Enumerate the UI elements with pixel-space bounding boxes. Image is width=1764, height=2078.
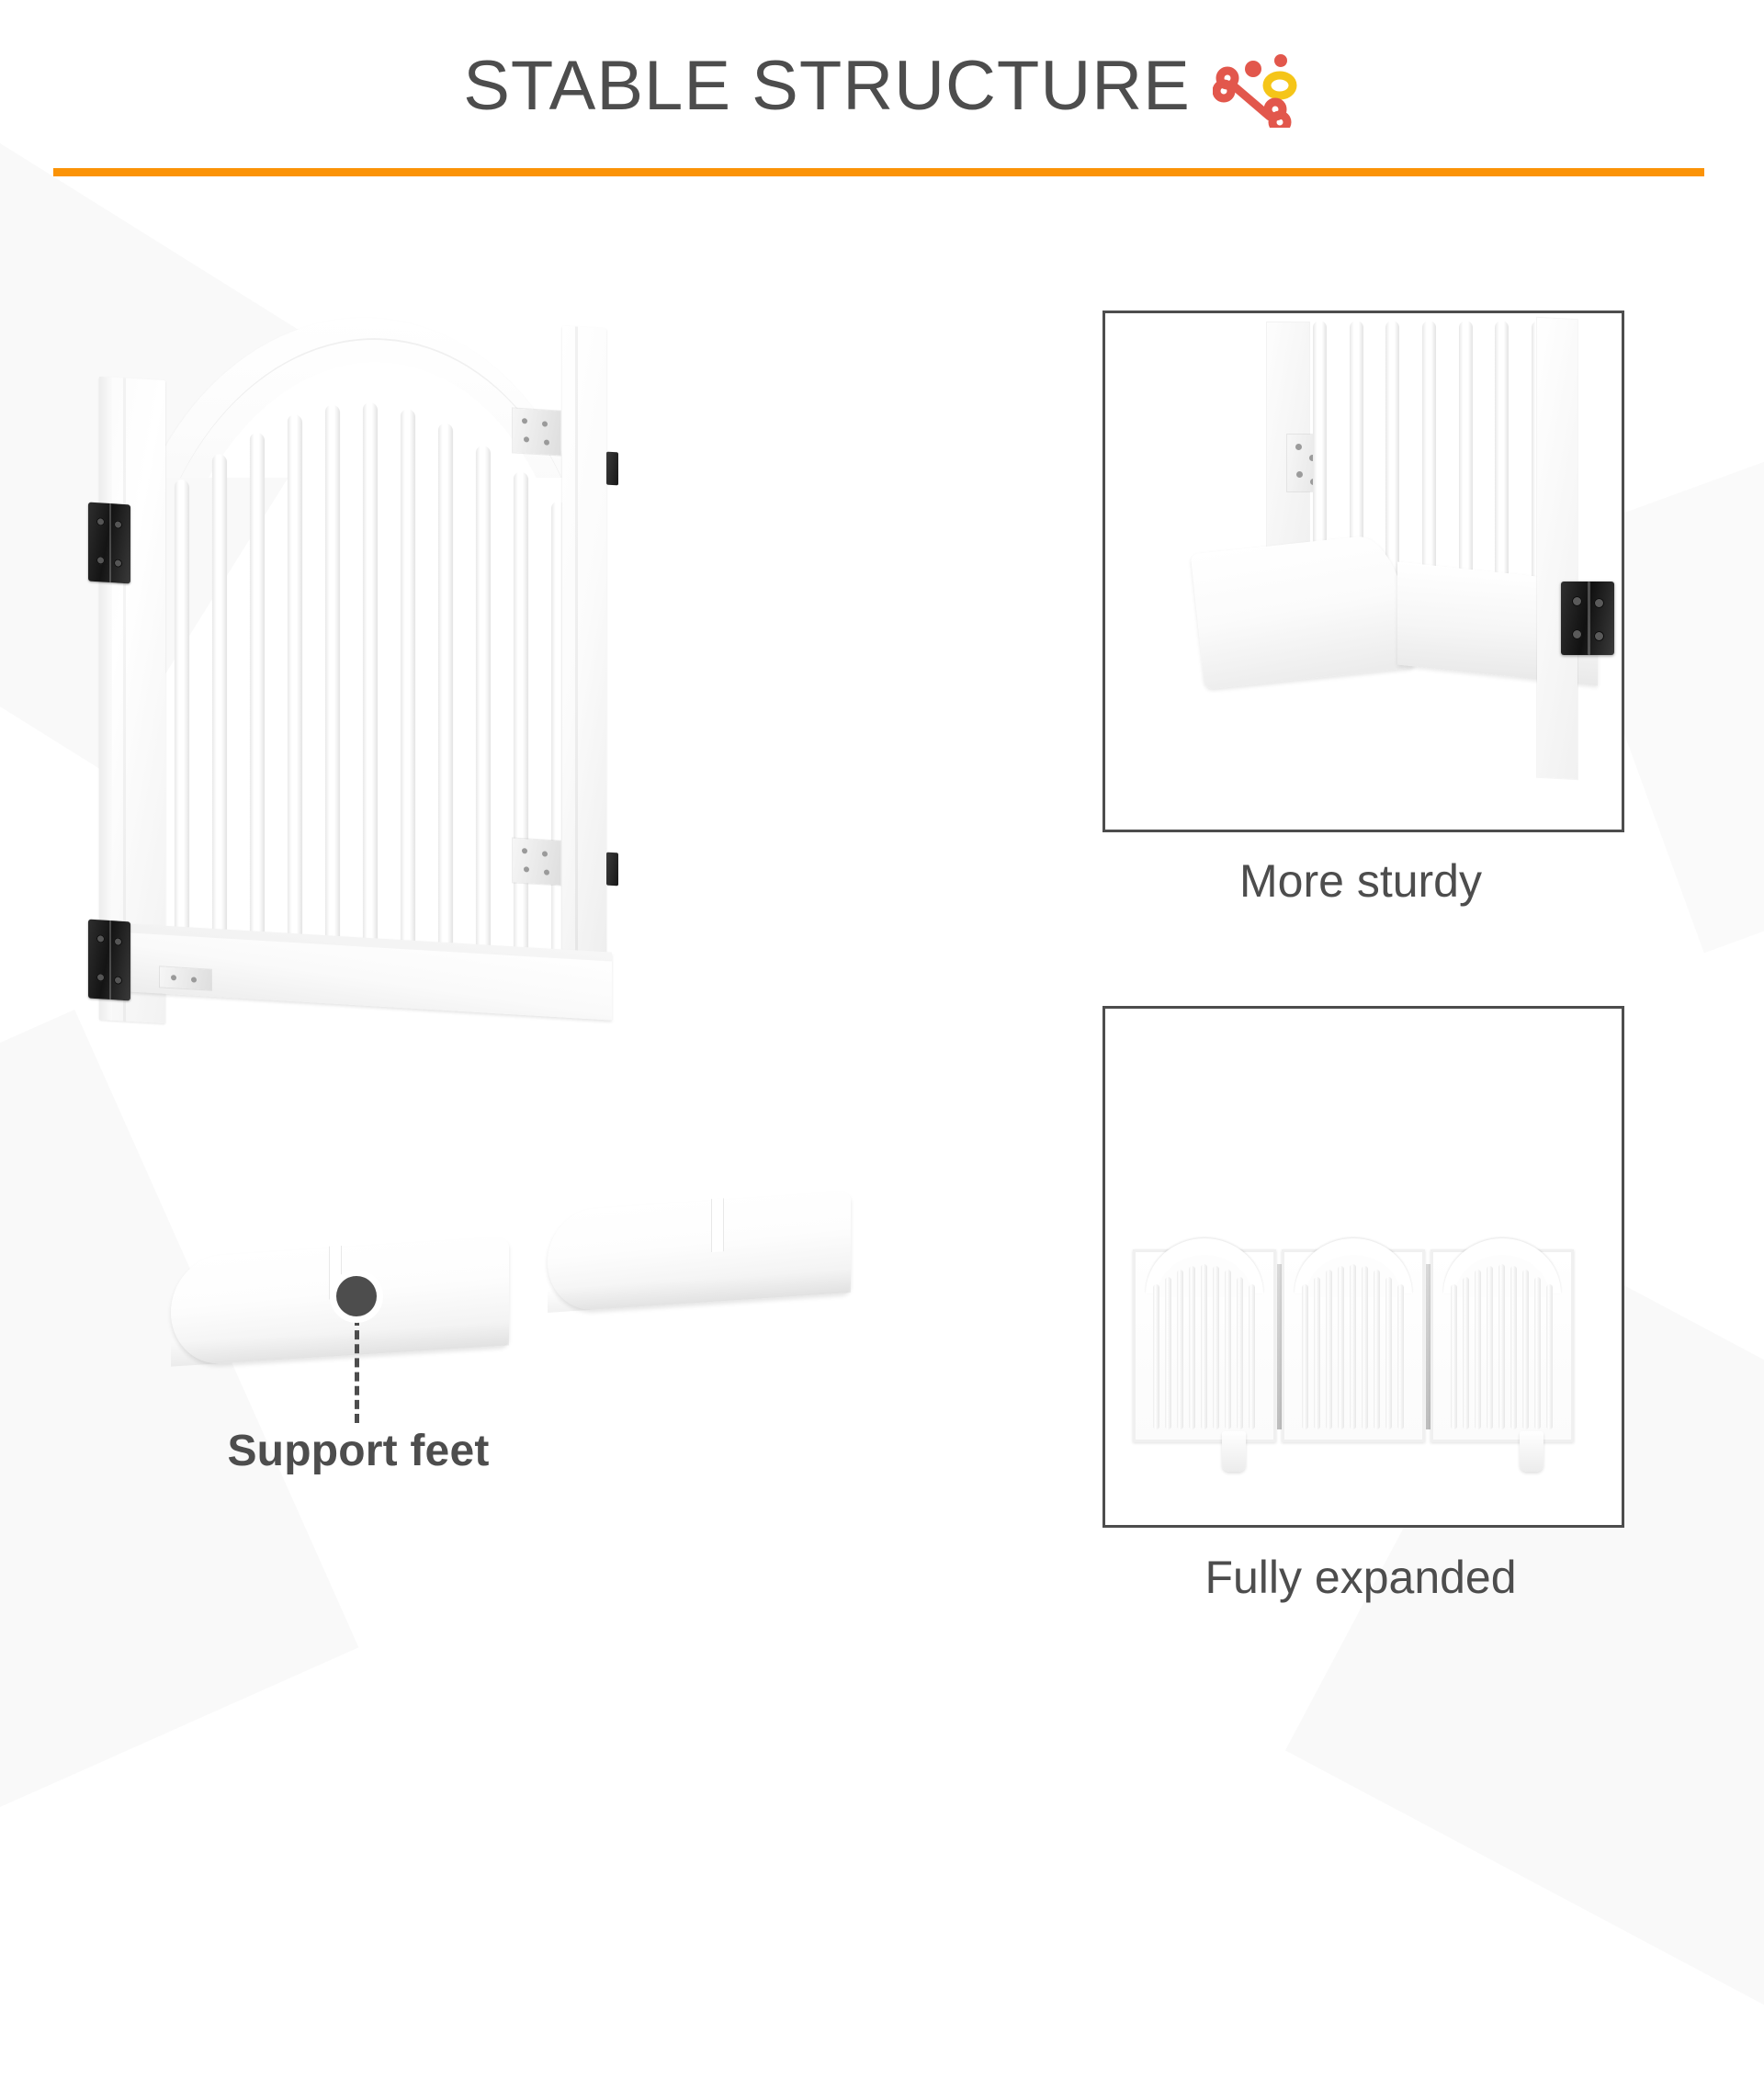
gate-slat (250, 432, 265, 997)
inset-gate-right-post (1537, 318, 1577, 779)
expanded-gate-support-foot (1222, 1431, 1246, 1472)
panel-slat (1498, 1264, 1505, 1429)
page-header: STABLE STRUCTURE (0, 0, 1764, 184)
gate-slat (212, 454, 227, 995)
panel-slat (1350, 1264, 1356, 1429)
inset-gate-slat (1459, 321, 1473, 598)
title-row: STABLE STRUCTURE (463, 45, 1301, 128)
inset-caption-more-sturdy: More sturdy (1102, 854, 1619, 908)
metal-bracket-bottom-left (160, 966, 211, 989)
gate-slat (476, 445, 491, 1010)
gate-slats (169, 361, 571, 1018)
expanded-gate-panel (1133, 1249, 1276, 1442)
panel-slat (1302, 1284, 1308, 1429)
panel-slat (1249, 1284, 1255, 1429)
panel-slat (1451, 1284, 1457, 1429)
inset-gate-slat (1495, 321, 1509, 593)
support-feet-label: Support feet (0, 1426, 717, 1476)
panel-slat (1374, 1270, 1380, 1429)
panel-slat (1397, 1284, 1404, 1429)
panel-slat (1534, 1277, 1541, 1429)
gate-hinge-lower (88, 920, 130, 1001)
dog-bone-icon (1213, 49, 1301, 128)
panel-slat (1225, 1270, 1231, 1429)
panel-slat (1326, 1270, 1332, 1429)
panel-slat (1153, 1284, 1159, 1429)
gate-right-stile (562, 326, 606, 963)
support-feet-callout-dot (336, 1276, 377, 1316)
panel-slat (1510, 1266, 1517, 1429)
inset-fully-expanded (1102, 1006, 1624, 1528)
panel-slat (1475, 1270, 1481, 1429)
panel-slat (1314, 1277, 1320, 1429)
gate-slat (401, 409, 415, 1006)
expanded-gate-panel (1430, 1249, 1574, 1442)
gate-slat (514, 471, 528, 1012)
metal-bracket-top-right (513, 408, 560, 455)
gate-pin-hinge-upper (606, 452, 618, 486)
inset-gate-slat (1422, 321, 1436, 604)
support-feet-callout-line (355, 1316, 359, 1423)
gate-slat (325, 404, 340, 1001)
support-foot-right (548, 1191, 851, 1313)
header-divider (53, 168, 1704, 176)
expanded-gate (1133, 1237, 1592, 1448)
panel-slat (1463, 1277, 1469, 1429)
inset-caption-fully-expanded: Fully expanded (1102, 1551, 1619, 1604)
gate-panel (81, 294, 632, 1029)
panel-slat (1338, 1266, 1344, 1429)
panel-slat (1385, 1277, 1392, 1429)
panel-slat (1522, 1270, 1529, 1429)
expanded-gate-panel (1282, 1249, 1425, 1442)
panel-slat (1165, 1277, 1171, 1429)
panel-slat (1237, 1277, 1243, 1429)
gate-slat (175, 480, 189, 993)
expanded-gate-support-foot (1520, 1431, 1543, 1472)
inset-more-sturdy (1102, 311, 1624, 832)
panel-slat (1177, 1270, 1183, 1429)
panel-slat (1189, 1266, 1195, 1429)
inset-black-hinge (1561, 582, 1614, 655)
gate-hinge-upper (88, 503, 130, 584)
gate-slat (288, 414, 302, 999)
hero-product-image (37, 239, 845, 1249)
panel-slat (1487, 1266, 1493, 1429)
panel-slat (1213, 1266, 1219, 1429)
inset-support-foot (1191, 532, 1415, 689)
panel-slat (1201, 1264, 1207, 1429)
panel-slat (1546, 1284, 1553, 1429)
gate-slat (363, 402, 378, 1004)
gate-slat (438, 424, 453, 1009)
panel-slat (1362, 1266, 1368, 1429)
page-title: STABLE STRUCTURE (463, 51, 1191, 121)
gate-pin-hinge-lower (606, 853, 618, 887)
metal-bracket-bottom-right (513, 838, 560, 885)
